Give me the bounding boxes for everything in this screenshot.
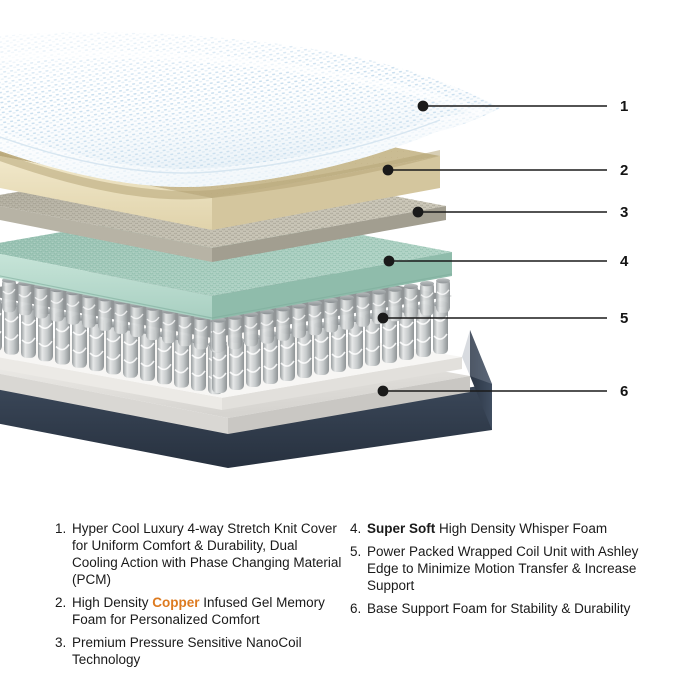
feature-list-left: 1.Hyper Cool Luxury 4-way Stretch Knit C… (55, 520, 345, 674)
mattress-svg (0, 0, 700, 510)
feature-item-number: 6. (350, 600, 367, 617)
callout-number-1: 1 (620, 99, 628, 114)
feature-item: 3.Premium Pressure Sensitive NanoCoil Te… (55, 634, 345, 668)
feature-text-segment: Premium Pressure Sensitive NanoCoil Tech… (72, 635, 302, 667)
feature-text-segment: Copper (152, 595, 199, 610)
callout-number-2: 2 (620, 163, 628, 178)
feature-item-number: 3. (55, 634, 72, 651)
feature-item-number: 5. (350, 543, 367, 560)
feature-item: 2.High Density Copper Infused Gel Memory… (55, 594, 345, 628)
feature-item: 1.Hyper Cool Luxury 4-way Stretch Knit C… (55, 520, 345, 588)
feature-item-text: Super Soft High Density Whisper Foam (367, 520, 650, 537)
feature-item-number: 1. (55, 520, 72, 537)
feature-item-text: High Density Copper Infused Gel Memory F… (72, 594, 345, 628)
callout-number-4: 4 (620, 254, 628, 269)
feature-item-number: 4. (350, 520, 367, 537)
mattress-layer-diagram-page: 123456 1.Hyper Cool Luxury 4-way Stretch… (0, 0, 700, 700)
feature-text-segment: Power Packed Wrapped Coil Unit with Ashl… (367, 544, 638, 593)
feature-item: 4.Super Soft High Density Whisper Foam (350, 520, 650, 537)
callout-number-6: 6 (620, 384, 628, 399)
mattress-cutaway-illustration: 123456 (0, 0, 700, 510)
feature-text-segment: Super Soft (367, 521, 435, 536)
feature-text-segment: High Density Whisper Foam (435, 521, 607, 536)
feature-item-text: Base Support Foam for Stability & Durabi… (367, 600, 650, 617)
feature-item-number: 2. (55, 594, 72, 611)
feature-list-right: 4.Super Soft High Density Whisper Foam5.… (350, 520, 650, 623)
feature-legend: 1.Hyper Cool Luxury 4-way Stretch Knit C… (0, 520, 700, 700)
feature-item-text: Hyper Cool Luxury 4-way Stretch Knit Cov… (72, 520, 345, 588)
callout-number-3: 3 (620, 205, 628, 220)
feature-text-segment: Hyper Cool Luxury 4-way Stretch Knit Cov… (72, 521, 341, 587)
feature-item: 6.Base Support Foam for Stability & Dura… (350, 600, 650, 617)
feature-item-text: Premium Pressure Sensitive NanoCoil Tech… (72, 634, 345, 668)
feature-item-text: Power Packed Wrapped Coil Unit with Ashl… (367, 543, 650, 594)
callout-number-5: 5 (620, 311, 628, 326)
feature-item: 5.Power Packed Wrapped Coil Unit with As… (350, 543, 650, 594)
feature-text-segment: Base Support Foam for Stability & Durabi… (367, 601, 630, 616)
feature-text-segment: High Density (72, 595, 152, 610)
